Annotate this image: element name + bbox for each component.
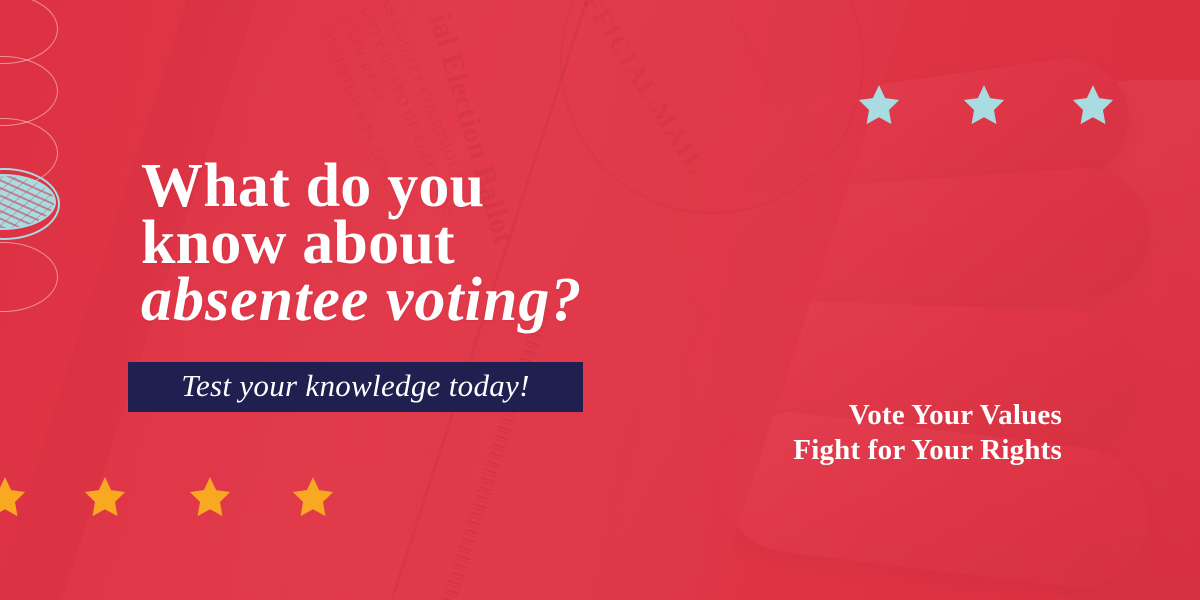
cta-banner[interactable]: Test your knowledge today! (128, 362, 583, 412)
headline-line-3: absentee voting? (141, 272, 582, 329)
headline-line-2: know about (141, 215, 582, 272)
spiral-ring-icon (0, 0, 58, 64)
star-orange-icon (82, 474, 128, 520)
spiral-ring-highlight-outline-icon (0, 168, 60, 240)
spiral-ring-icon (0, 56, 58, 126)
star-blue-icon (856, 82, 902, 128)
headline-line-1: What do you (141, 158, 582, 215)
tagline-line-1: Vote Your Values (793, 398, 1062, 433)
star-orange-icon (290, 474, 336, 520)
star-blue-icon (1070, 82, 1116, 128)
tagline: Vote Your Values Fight for Your Rights (793, 398, 1062, 468)
cta-banner-text: Test your knowledge today! (181, 370, 529, 404)
tagline-line-2: Fight for Your Rights (793, 433, 1062, 468)
headline: What do you know about absentee voting? (141, 158, 582, 329)
absentee-voting-banner: ial Election Ballot KS COUNTY COURTHOUSE… (0, 0, 1200, 600)
star-blue-icon (961, 82, 1007, 128)
star-orange-icon (187, 474, 233, 520)
spiral-ring-icon (0, 242, 58, 312)
star-orange-icon (0, 474, 28, 520)
